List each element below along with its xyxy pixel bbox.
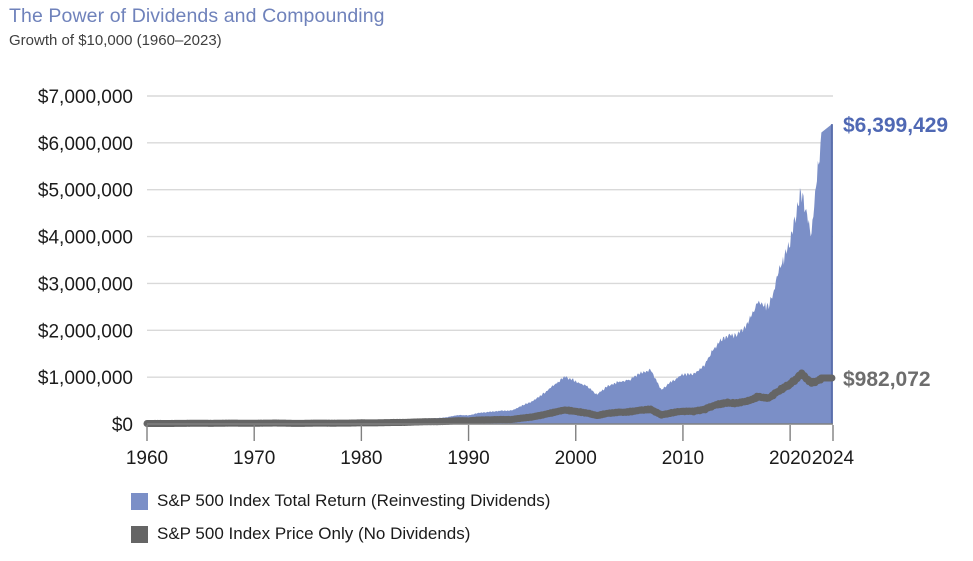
legend-swatch-total-return — [131, 493, 148, 510]
y-axis-tick-label: $3,000,000 — [38, 274, 133, 295]
legend-item-price-only[interactable]: S&P 500 Index Price Only (No Dividends) — [131, 524, 470, 544]
x-axis-tick-label: 2010 — [662, 448, 704, 469]
x-axis-tick-label: 1990 — [447, 448, 489, 469]
y-axis-tick-label: $4,000,000 — [38, 228, 133, 249]
chart-svg: $0$1,000,000$2,000,000$3,000,000$4,000,0… — [0, 0, 973, 561]
x-axis-tick-label: 2024 — [812, 448, 855, 469]
x-axis-tick-label: 1970 — [233, 448, 275, 469]
legend-item-total-return[interactable]: S&P 500 Index Total Return (Reinvesting … — [131, 491, 550, 511]
end-label-price-only: $982,072 — [843, 368, 931, 391]
legend-label-price-only: S&P 500 Index Price Only (No Dividends) — [157, 524, 470, 544]
x-axis-tick-label: 2000 — [555, 448, 597, 469]
y-axis-tick-label: $5,000,000 — [38, 181, 133, 202]
y-axis-tick-label: $2,000,000 — [38, 321, 133, 342]
y-axis-tick-label: $1,000,000 — [38, 368, 133, 389]
x-axis-tick-label: 2020 — [769, 448, 811, 469]
y-axis-tick-label: $0 — [112, 415, 133, 436]
chart-page: The Power of Dividends and Compounding G… — [0, 0, 973, 561]
y-axis-tick-label: $6,000,000 — [38, 134, 133, 155]
series-area-total-return — [147, 124, 832, 424]
legend-swatch-price-only — [131, 526, 148, 543]
x-axis-tick-label: 1960 — [126, 448, 168, 469]
y-axis-tick-label: $7,000,000 — [38, 87, 133, 108]
plot-area: $0$1,000,000$2,000,000$3,000,000$4,000,0… — [0, 0, 973, 561]
legend-label-total-return: S&P 500 Index Total Return (Reinvesting … — [157, 491, 550, 511]
x-axis-tick-label: 1980 — [340, 448, 382, 469]
end-label-total-return: $6,399,429 — [843, 114, 948, 137]
